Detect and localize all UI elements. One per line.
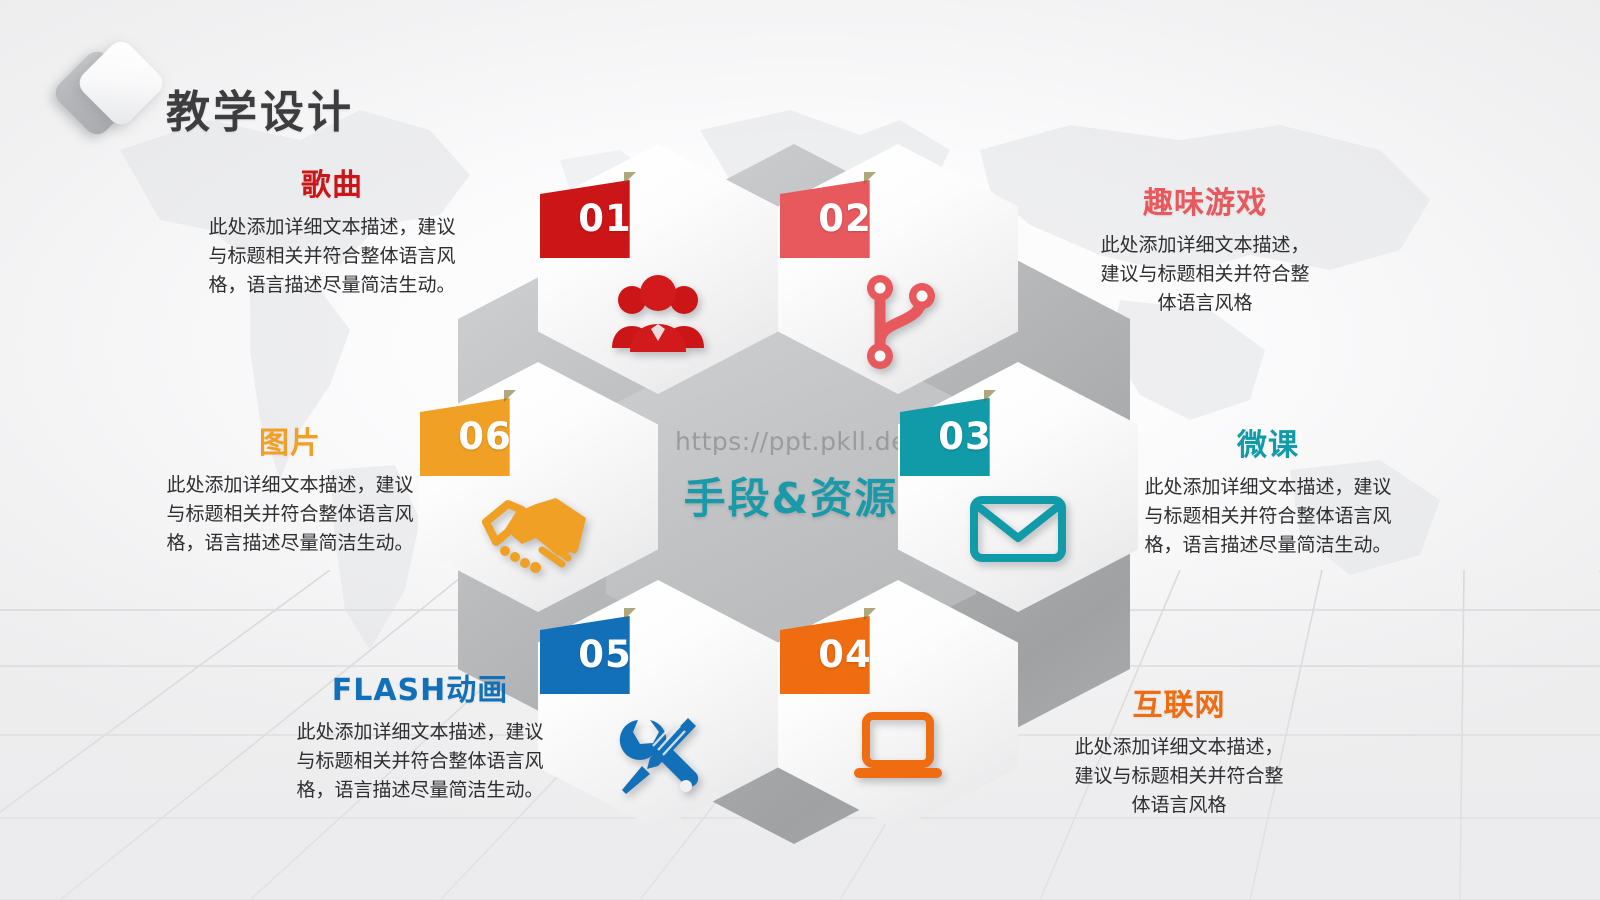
item-heading-03: 微课 <box>1118 420 1418 464</box>
item-heading-01: 歌曲 <box>182 160 482 204</box>
text-block-04: 互联网 此处添加详细文本描述， 建议与标题相关并符合整 体语言风格 <box>1024 680 1334 820</box>
text-block-01: 歌曲 此处添加详细文本描述，建议 与标题相关并符合整体语言风 格，语言描述尽量简… <box>182 160 482 300</box>
hexagon-item-04[interactable]: 04 <box>778 580 1018 830</box>
item-body-02: 此处添加详细文本描述， 建议与标题相关并符合整 体语言风格 <box>1050 231 1360 318</box>
hexagon-item-05[interactable]: 05 <box>538 580 778 830</box>
hexagon-tile-03 <box>898 362 1138 612</box>
users-group-icon <box>538 274 778 352</box>
item-heading-06: 图片 <box>140 418 440 462</box>
text-block-05: FLASH动画 此处添加详细文本描述，建议 与标题相关并符合整体语言风 格，语言… <box>270 665 570 805</box>
ribbon-number-03: 03 <box>938 415 992 458</box>
ribbon-number-04: 04 <box>818 633 872 676</box>
hexagon-item-01[interactable]: 01 <box>538 144 778 394</box>
hexagon-tile-01 <box>538 144 778 394</box>
ribbon-number-02: 02 <box>818 197 872 240</box>
text-block-03: 微课 此处添加详细文本描述，建议 与标题相关并符合整体语言风 格，语言描述尽量简… <box>1118 420 1418 560</box>
hexagon-item-06[interactable]: 06 <box>418 362 658 612</box>
handshake-icon <box>418 492 658 578</box>
laptop-icon <box>778 710 1018 786</box>
tools-wrench-screwdriver-icon <box>538 710 778 802</box>
item-body-01: 此处添加详细文本描述，建议 与标题相关并符合整体语言风 格，语言描述尽量简洁生动… <box>182 213 482 300</box>
item-body-04: 此处添加详细文本描述， 建议与标题相关并符合整 体语言风格 <box>1024 733 1334 820</box>
ribbon-number-06: 06 <box>458 415 512 458</box>
page-title: 教学设计 <box>166 76 354 140</box>
hexagon-tile-04 <box>778 580 1018 830</box>
item-body-03: 此处添加详细文本描述，建议 与标题相关并符合整体语言风 格，语言描述尽量简洁生动… <box>1118 473 1418 560</box>
ribbon-number-01: 01 <box>578 197 632 240</box>
envelope-icon <box>898 492 1138 566</box>
item-body-06: 此处添加详细文本描述，建议 与标题相关并符合整体语言风 格，语言描述尽量简洁生动… <box>140 471 440 558</box>
item-body-05: 此处添加详细文本描述，建议 与标题相关并符合整体语言风 格，语言描述尽量简洁生动… <box>270 718 570 805</box>
ribbon-number-05: 05 <box>578 633 632 676</box>
item-heading-02: 趣味游戏 <box>1050 178 1360 222</box>
double-diamond-icon <box>58 40 170 152</box>
item-heading-04: 互联网 <box>1024 680 1334 724</box>
branch-fork-icon <box>778 274 1018 370</box>
text-block-02: 趣味游戏 此处添加详细文本描述， 建议与标题相关并符合整 体语言风格 <box>1050 178 1360 318</box>
hexagon-item-03[interactable]: 03 <box>898 362 1138 612</box>
hexagon-item-02[interactable]: 02 <box>778 144 1018 394</box>
text-block-06: 图片 此处添加详细文本描述，建议 与标题相关并符合整体语言风 格，语言描述尽量简… <box>140 418 440 558</box>
item-heading-05: FLASH动画 <box>270 665 570 709</box>
